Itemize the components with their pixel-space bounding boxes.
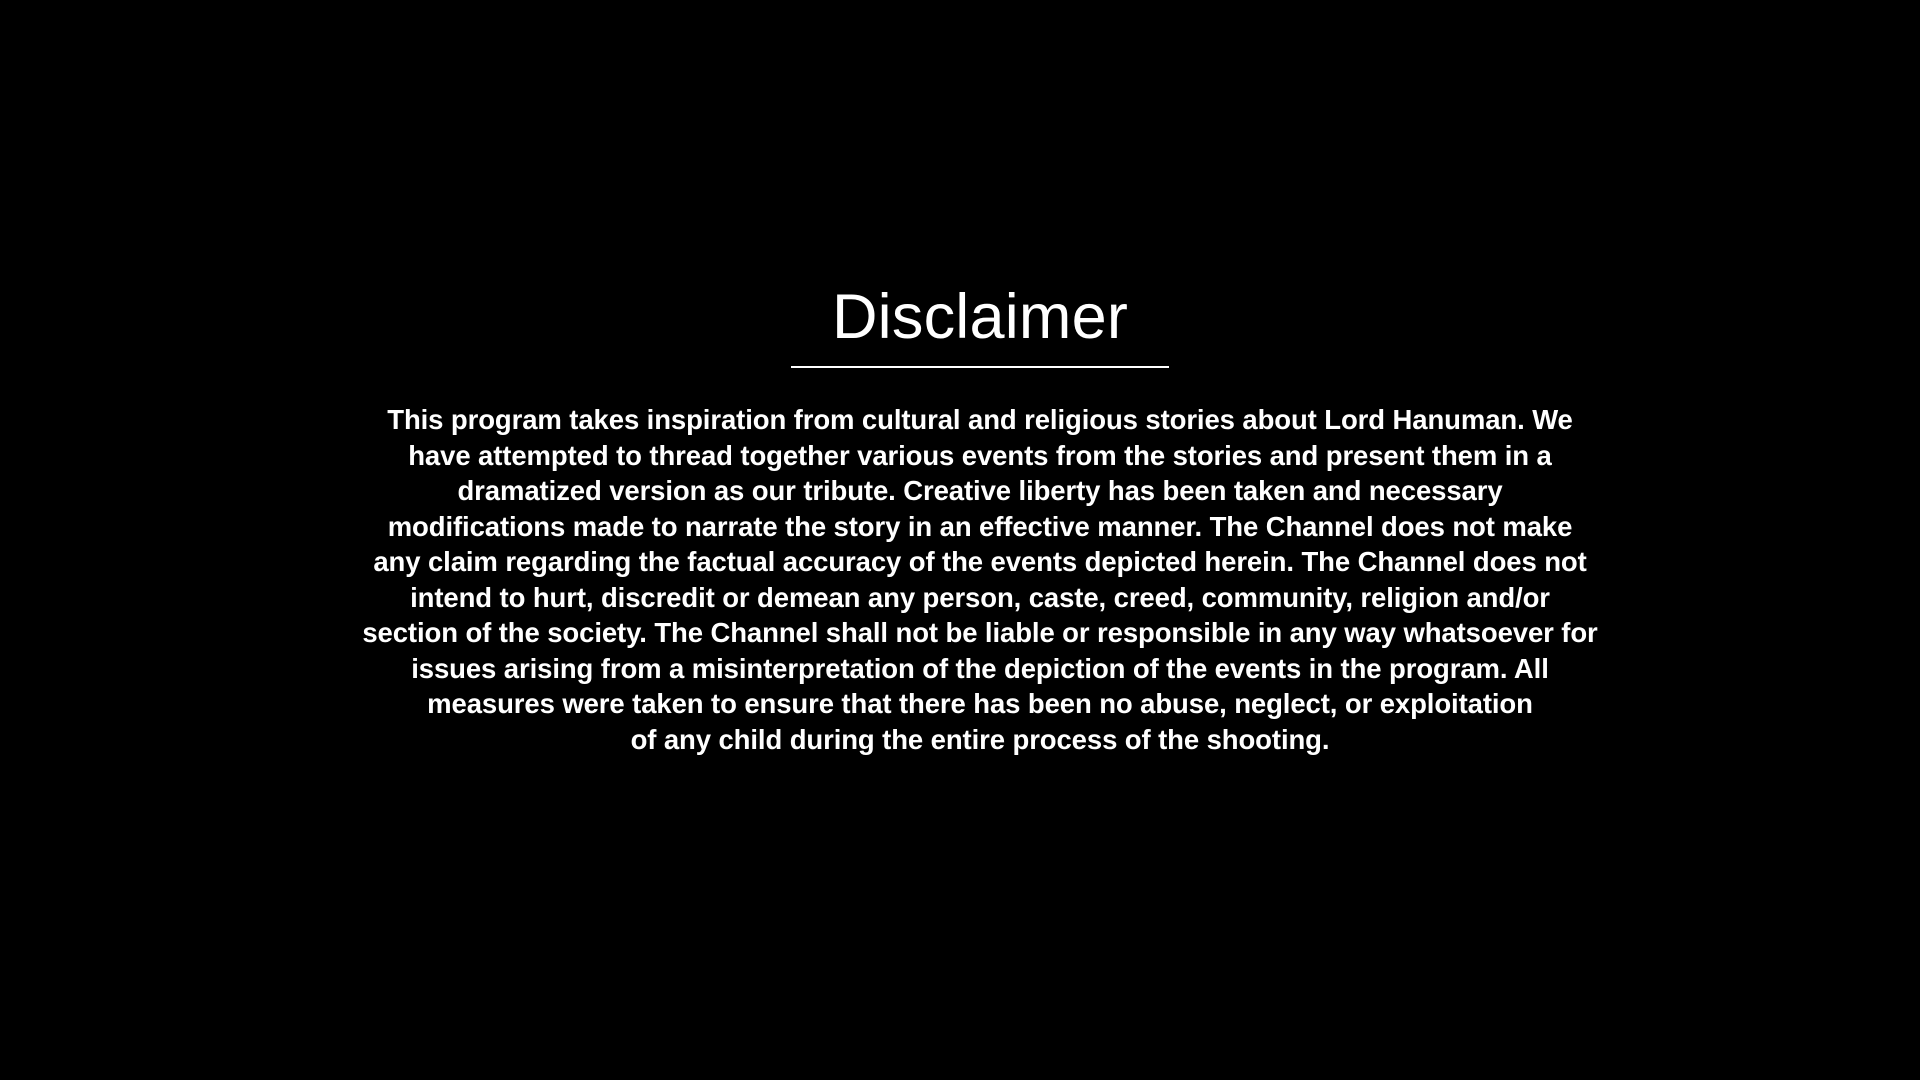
disclaimer-screen: Disclaimer This program takes inspiratio… [0,0,1920,1080]
disclaimer-card: Disclaimer This program takes inspiratio… [190,282,1730,757]
disclaimer-body-text: This program takes inspiration from cult… [210,402,1750,757]
page-title: Disclaimer [210,282,1750,352]
title-divider [791,366,1169,368]
